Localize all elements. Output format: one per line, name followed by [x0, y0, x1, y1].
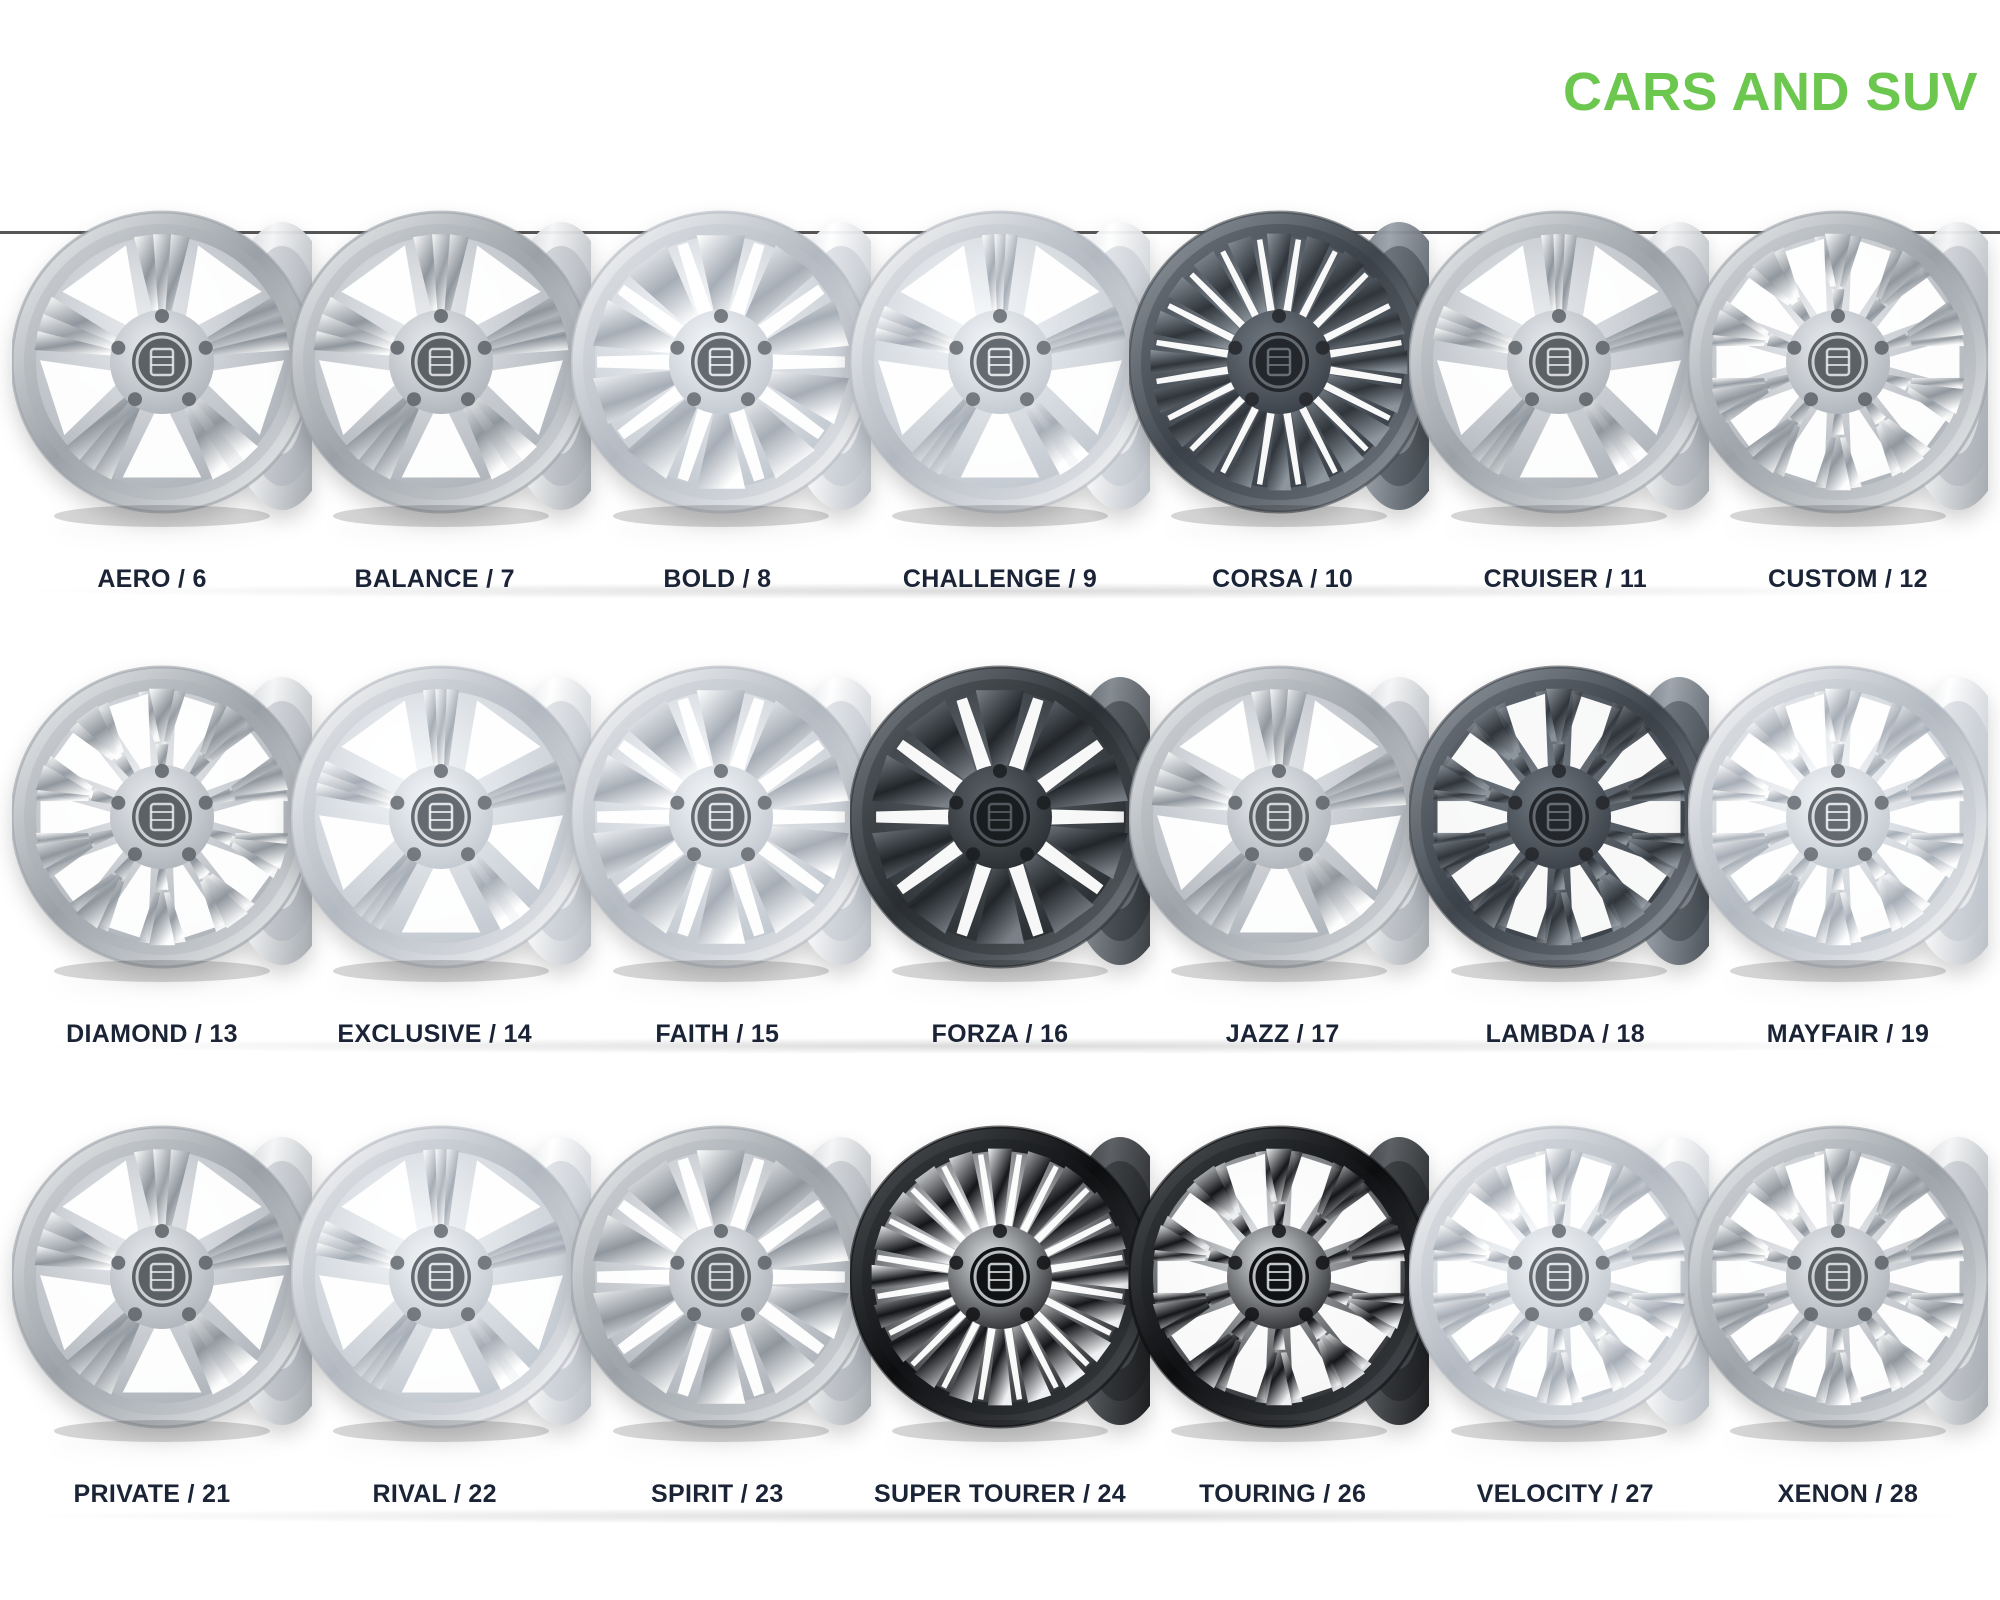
wheel-label-jazz: JAZZ / 17	[1143, 1010, 1423, 1058]
wheel-label-faith: FAITH / 15	[577, 1010, 857, 1058]
wheel-card-balance[interactable]	[291, 175, 591, 555]
wheel-image-faith	[571, 655, 871, 985]
wheel-image-corsa	[1129, 200, 1429, 530]
wheel-label-challenge: CHALLENGE / 9	[860, 555, 1140, 603]
wheel-label-private: PRIVATE / 21	[12, 1470, 292, 1518]
wheel-image-mayfair	[1688, 655, 1988, 985]
wheel-image-balance	[291, 200, 591, 530]
wheel-card-touring[interactable]	[1129, 1090, 1429, 1470]
wheel-card-diamond[interactable]	[12, 630, 312, 1010]
wheel-label-velocity: VELOCITY / 27	[1425, 1470, 1705, 1518]
wheel-card-rival[interactable]	[291, 1090, 591, 1470]
wheel-label-super-tourer: SUPER TOURER / 24	[860, 1470, 1140, 1518]
wheel-label-xenon: XENON / 28	[1708, 1470, 1988, 1518]
wheel-image-lambda	[1409, 655, 1709, 985]
wheel-card-super-tourer[interactable]	[850, 1090, 1150, 1470]
wheel-image-touring	[1129, 1115, 1429, 1445]
wheel-image-forza	[850, 655, 1150, 985]
wheel-image-rival	[291, 1115, 591, 1445]
wheel-label-exclusive: EXCLUSIVE / 14	[295, 1010, 575, 1058]
wheel-card-bold[interactable]	[571, 175, 871, 555]
wheel-image-spirit	[571, 1115, 871, 1445]
wheel-card-challenge[interactable]	[850, 175, 1150, 555]
wheel-label-diamond: DIAMOND / 13	[12, 1010, 292, 1058]
wheel-catalogue-page: CARS AND SUV	[0, 0, 2000, 1600]
wheel-label-balance: BALANCE / 7	[295, 555, 575, 603]
wheel-row-3: PRIVATE / 21RIVAL / 22SPIRIT / 23SUPER T…	[0, 1090, 2000, 1530]
page-header: CARS AND SUV	[0, 0, 2000, 170]
wheel-card-aero[interactable]	[12, 175, 312, 555]
label-strip-1: AERO / 6BALANCE / 7BOLD / 8CHALLENGE / 9…	[0, 555, 2000, 603]
wheel-card-cruiser[interactable]	[1409, 175, 1709, 555]
wheel-card-custom[interactable]	[1688, 175, 1988, 555]
wheel-image-velocity	[1409, 1115, 1709, 1445]
wheel-image-diamond	[12, 655, 312, 985]
wheel-card-exclusive[interactable]	[291, 630, 591, 1010]
label-strip-3: PRIVATE / 21RIVAL / 22SPIRIT / 23SUPER T…	[0, 1470, 2000, 1518]
wheel-label-lambda: LAMBDA / 18	[1425, 1010, 1705, 1058]
wheel-label-forza: FORZA / 16	[860, 1010, 1140, 1058]
wheel-image-jazz	[1129, 655, 1429, 985]
wheel-card-corsa[interactable]	[1129, 175, 1429, 555]
wheel-card-lambda[interactable]	[1409, 630, 1709, 1010]
wheel-image-aero	[12, 200, 312, 530]
label-strip-2: DIAMOND / 13EXCLUSIVE / 14FAITH / 15FORZ…	[0, 1010, 2000, 1058]
wheel-image-bold	[571, 200, 871, 530]
wheel-label-bold: BOLD / 8	[577, 555, 857, 603]
wheel-image-cruiser	[1409, 200, 1709, 530]
wheel-image-super-tourer	[850, 1115, 1150, 1445]
wheel-image-challenge	[850, 200, 1150, 530]
wheel-image-xenon	[1688, 1115, 1988, 1445]
wheel-card-forza[interactable]	[850, 630, 1150, 1010]
wheel-image-private	[12, 1115, 312, 1445]
wheel-card-spirit[interactable]	[571, 1090, 871, 1470]
wheel-card-private[interactable]	[12, 1090, 312, 1470]
wheel-card-faith[interactable]	[571, 630, 871, 1010]
wheel-row-2: DIAMOND / 13EXCLUSIVE / 14FAITH / 15FORZ…	[0, 630, 2000, 1060]
wheel-row-1: AERO / 6BALANCE / 7BOLD / 8CHALLENGE / 9…	[0, 175, 2000, 605]
wheel-image-custom	[1688, 200, 1988, 530]
wheel-label-touring: TOURING / 26	[1143, 1470, 1423, 1518]
wheel-label-rival: RIVAL / 22	[295, 1470, 575, 1518]
wheel-label-mayfair: MAYFAIR / 19	[1708, 1010, 1988, 1058]
wheel-strip-2	[0, 630, 2000, 1010]
wheel-label-aero: AERO / 6	[12, 555, 292, 603]
wheel-strip-3	[0, 1090, 2000, 1470]
wheel-image-exclusive	[291, 655, 591, 985]
wheel-strip-1	[0, 175, 2000, 555]
wheel-label-corsa: CORSA / 10	[1143, 555, 1423, 603]
wheel-label-custom: CUSTOM / 12	[1708, 555, 1988, 603]
wheel-card-mayfair[interactable]	[1688, 630, 1988, 1010]
wheel-card-xenon[interactable]	[1688, 1090, 1988, 1470]
wheel-label-cruiser: CRUISER / 11	[1425, 555, 1705, 603]
page-title: CARS AND SUV	[1563, 65, 1978, 119]
wheel-card-velocity[interactable]	[1409, 1090, 1709, 1470]
wheel-label-spirit: SPIRIT / 23	[577, 1470, 857, 1518]
wheel-card-jazz[interactable]	[1129, 630, 1429, 1010]
